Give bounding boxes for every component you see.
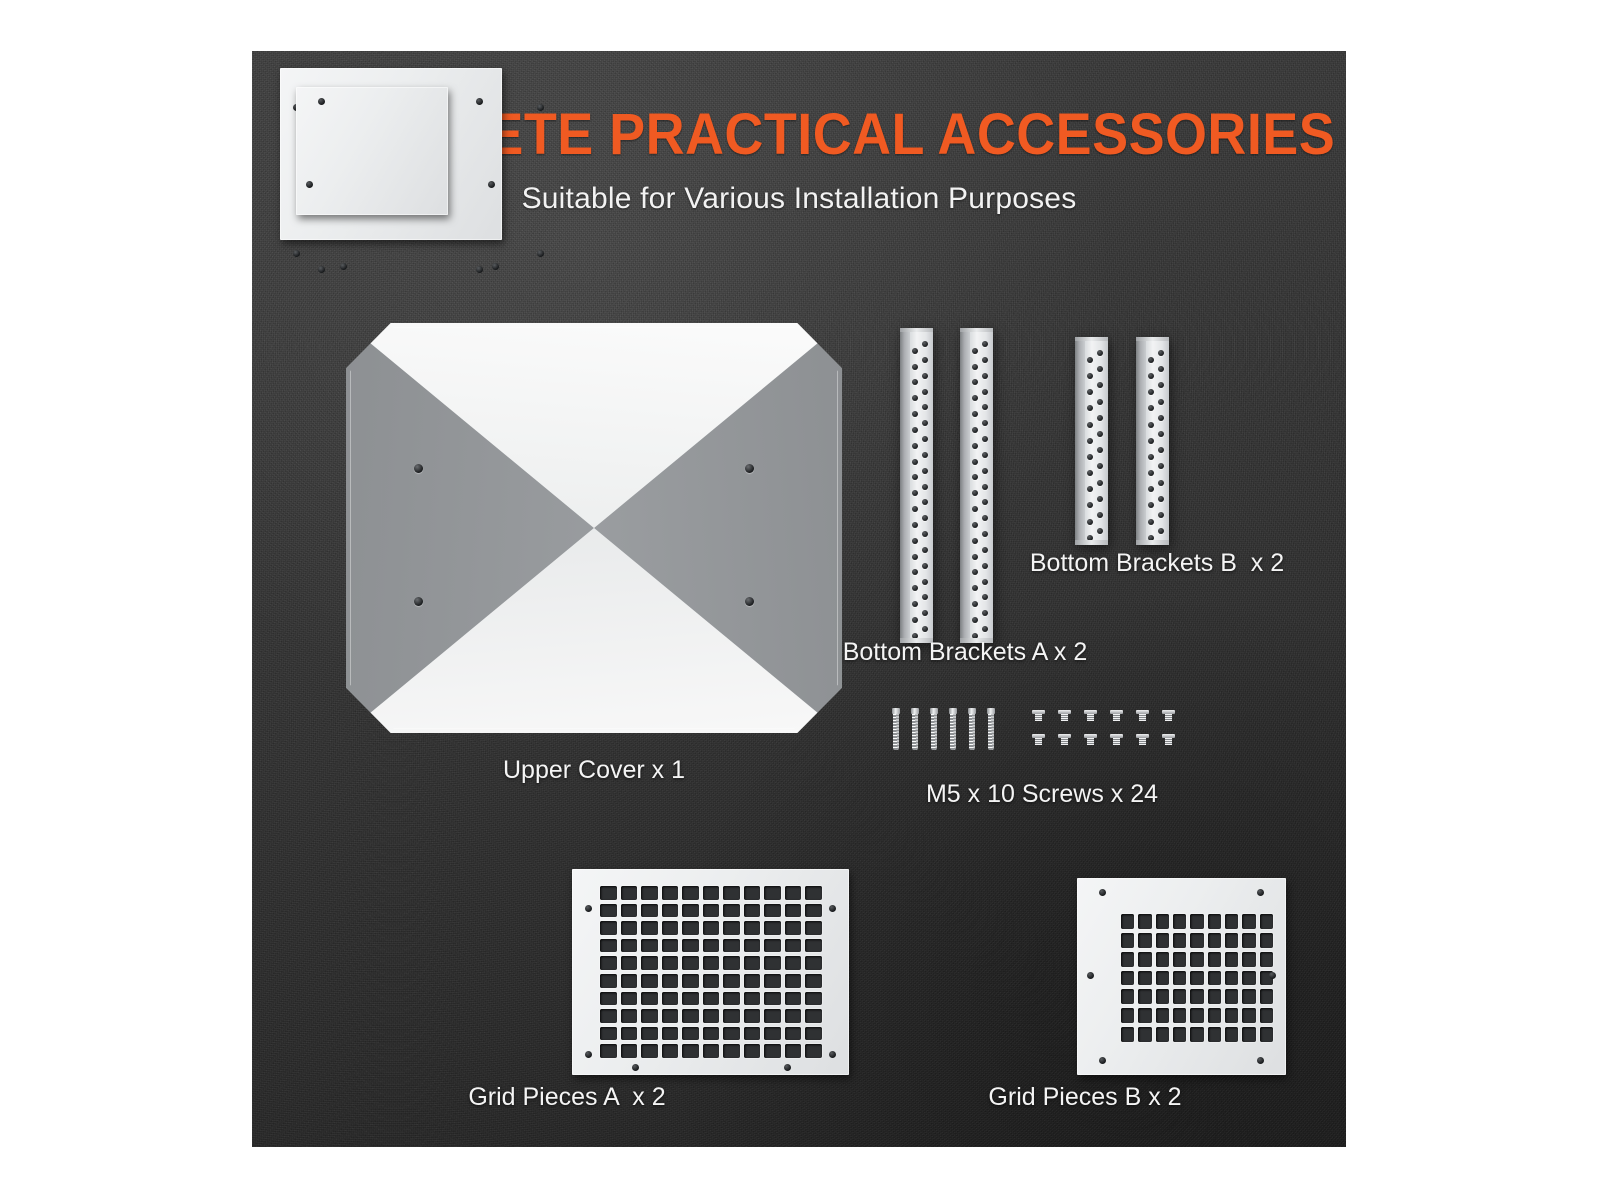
grid-cell xyxy=(805,974,822,988)
grid-cell xyxy=(1173,914,1186,929)
bracket-hole xyxy=(922,341,928,347)
grid-cell xyxy=(1242,933,1255,948)
bracket-hole xyxy=(1158,528,1164,534)
long-screw xyxy=(968,708,976,750)
upper-cover-part xyxy=(346,323,842,733)
grid-cell xyxy=(703,1044,720,1058)
grid-cell xyxy=(641,974,658,988)
bottom-bracket-b xyxy=(1136,341,1169,541)
grid-cell xyxy=(1190,933,1203,948)
screw-body xyxy=(1087,738,1094,745)
grid-cell xyxy=(744,956,761,970)
grid-cell xyxy=(1225,1027,1238,1042)
grid-cell xyxy=(1208,914,1221,929)
grid-cell xyxy=(723,1044,740,1058)
bracket-hole xyxy=(972,443,978,449)
grid-cell xyxy=(723,939,740,953)
bracket-hole-array xyxy=(910,332,933,639)
bracket-hole xyxy=(972,506,978,512)
short-screw xyxy=(1058,710,1071,721)
bracket-hole xyxy=(1097,463,1103,469)
grid-cell xyxy=(785,1009,802,1023)
bracket-hole xyxy=(1158,366,1164,372)
bracket-hole xyxy=(982,373,988,379)
bracket-hole xyxy=(1158,496,1164,502)
long-screw xyxy=(911,708,919,750)
grid-cell xyxy=(785,1044,802,1058)
grid-cell xyxy=(1208,971,1221,986)
grid-cell xyxy=(1121,933,1134,948)
grid-cell xyxy=(1225,952,1238,967)
grid-cell xyxy=(1225,971,1238,986)
bracket-hole xyxy=(982,499,988,505)
bracket-hole xyxy=(922,531,928,537)
grid-cell xyxy=(600,939,617,953)
bracket-hole xyxy=(982,579,988,585)
screw-body xyxy=(1035,738,1042,745)
grid-cell xyxy=(703,974,720,988)
dark-background-panel: COMPLETE PRACTICAL ACCESSORIES Suitable … xyxy=(252,51,1346,1147)
grid-cell xyxy=(682,939,699,953)
grid-piece-b xyxy=(1077,878,1286,1075)
grid-pieces-a-label: Grid Pieces A x 2 xyxy=(402,1083,732,1112)
cover-screw-hole xyxy=(414,464,423,473)
screw-body xyxy=(1139,738,1146,745)
short-screws-array xyxy=(1032,710,1187,758)
grid-cell xyxy=(703,956,720,970)
grid-cell xyxy=(1138,933,1151,948)
grid-cell xyxy=(723,1009,740,1023)
bracket-hole xyxy=(1097,431,1103,437)
infographic-canvas: COMPLETE PRACTICAL ACCESSORIES Suitable … xyxy=(0,0,1600,1200)
grid-cell xyxy=(744,886,761,900)
bracket-hole xyxy=(912,506,918,512)
bracket-flange xyxy=(900,332,910,639)
grid-cell xyxy=(600,1009,617,1023)
grid-cell xyxy=(1156,933,1169,948)
grid-cell xyxy=(621,886,638,900)
bracket-hole xyxy=(1087,486,1093,492)
bracket-hole xyxy=(1148,486,1154,492)
grid-cell xyxy=(1156,1027,1169,1042)
screw-body xyxy=(1035,714,1042,721)
grid-cell xyxy=(1156,971,1169,986)
bracket-hole xyxy=(922,626,928,632)
bracket-hole xyxy=(912,364,918,370)
grid-cell xyxy=(1156,914,1169,929)
short-screw xyxy=(1032,710,1045,721)
bracket-hole xyxy=(1097,382,1103,388)
grid-cell xyxy=(1225,1008,1238,1023)
grid-cell xyxy=(1121,914,1134,929)
bracket-hole xyxy=(922,547,928,553)
grid-cell xyxy=(641,886,658,900)
grid-screw-hole xyxy=(293,250,300,257)
bracket-hole xyxy=(912,395,918,401)
bracket-hole xyxy=(1158,431,1164,437)
grid-cell xyxy=(1260,914,1273,929)
bracket-hole xyxy=(972,585,978,591)
grid-cell xyxy=(600,992,617,1006)
screw-shank xyxy=(969,714,975,750)
grid-cell xyxy=(785,939,802,953)
bottom-brackets-b-label: Bottom Brackets B x 2 xyxy=(992,549,1322,578)
grid-cell xyxy=(1260,989,1273,1004)
bracket-hole xyxy=(972,569,978,575)
bracket-cap-bottom xyxy=(1075,540,1108,545)
grid-cell xyxy=(703,886,720,900)
bracket-face xyxy=(1146,341,1169,541)
short-screw xyxy=(1162,710,1175,721)
grid-cell xyxy=(764,956,781,970)
screw-body xyxy=(1113,738,1120,745)
bracket-hole xyxy=(1158,350,1164,356)
grid-cell xyxy=(1173,971,1186,986)
grid-cell xyxy=(600,974,617,988)
grid-cell xyxy=(723,956,740,970)
bracket-hole xyxy=(982,563,988,569)
bracket-hole xyxy=(1158,480,1164,486)
grid-screw-hole xyxy=(1257,1057,1264,1064)
grid-cell xyxy=(662,1044,679,1058)
bottom-bracket-a xyxy=(960,332,993,639)
grid-screw-hole xyxy=(488,181,495,188)
grid-cell xyxy=(1242,952,1255,967)
bracket-flange xyxy=(960,332,970,639)
grid-cell xyxy=(1242,914,1255,929)
grid-cell xyxy=(662,1009,679,1023)
bracket-hole xyxy=(912,490,918,496)
bracket-hole xyxy=(912,569,918,575)
grid-cell xyxy=(805,1044,822,1058)
bracket-hole xyxy=(1087,405,1093,411)
grid-cell xyxy=(621,1009,638,1023)
grid-screw-hole xyxy=(492,263,499,270)
grid-piece-a xyxy=(572,869,849,1075)
bracket-hole xyxy=(1148,502,1154,508)
bracket-hole xyxy=(982,594,988,600)
grid-screw-hole xyxy=(1269,972,1276,979)
grid-cell xyxy=(723,904,740,918)
bracket-hole xyxy=(922,515,928,521)
grid-cell xyxy=(682,1009,699,1023)
long-screws-array xyxy=(892,708,1002,760)
grid-cell xyxy=(1138,914,1151,929)
bracket-hole xyxy=(912,601,918,607)
grid-cell xyxy=(600,1027,617,1041)
grid-cell xyxy=(1173,952,1186,967)
grid-cell xyxy=(1156,952,1169,967)
grid-cell xyxy=(723,921,740,935)
bracket-hole xyxy=(1097,366,1103,372)
bracket-hole-array xyxy=(1085,341,1108,541)
grid-cell xyxy=(764,1044,781,1058)
bracket-hole xyxy=(1158,399,1164,405)
grid-cell xyxy=(723,1027,740,1041)
grid-cell xyxy=(1138,1008,1151,1023)
bracket-hole xyxy=(1097,512,1103,518)
short-screw xyxy=(1084,734,1097,745)
grid-cell xyxy=(1173,1027,1186,1042)
grid-cell xyxy=(1208,989,1221,1004)
screw-body xyxy=(1061,738,1068,745)
bracket-hole xyxy=(982,452,988,458)
grid-screw-hole xyxy=(476,266,483,273)
bracket-flange xyxy=(1075,341,1085,541)
bracket-hole xyxy=(1097,528,1103,534)
bracket-hole xyxy=(912,585,918,591)
grid-cell xyxy=(805,921,822,935)
bracket-hole xyxy=(922,484,928,490)
grid-screw-hole xyxy=(632,1064,639,1071)
screw-body xyxy=(1061,714,1068,721)
bracket-face xyxy=(910,332,933,639)
grid-cell xyxy=(1190,952,1203,967)
grid-cell xyxy=(621,1044,638,1058)
bracket-hole xyxy=(1097,496,1103,502)
bracket-hole xyxy=(1087,422,1093,428)
grid-cell xyxy=(621,939,638,953)
bracket-hole xyxy=(912,617,918,623)
grid-cell xyxy=(764,904,781,918)
grid-cell xyxy=(662,956,679,970)
grid-cell xyxy=(1173,989,1186,1004)
grid-screw-hole xyxy=(340,263,347,270)
bracket-hole xyxy=(972,427,978,433)
grid-cell xyxy=(682,956,699,970)
grid-cell xyxy=(764,886,781,900)
bracket-hole xyxy=(982,404,988,410)
bracket-hole xyxy=(982,420,988,426)
grid-cell xyxy=(1121,971,1134,986)
grid-cell xyxy=(1208,1027,1221,1042)
bracket-hole xyxy=(982,468,988,474)
bracket-hole xyxy=(982,341,988,347)
grid-cell xyxy=(641,1027,658,1041)
grid-cell xyxy=(662,1027,679,1041)
grid-cell xyxy=(662,974,679,988)
bracket-hole-array xyxy=(1146,341,1169,541)
grid-cell xyxy=(703,939,720,953)
grid-cell xyxy=(641,992,658,1006)
short-screw xyxy=(1136,710,1149,721)
grid-cell xyxy=(723,992,740,1006)
short-screw xyxy=(1032,734,1045,745)
bracket-hole xyxy=(912,538,918,544)
grid-screw-hole xyxy=(537,250,544,257)
grid-cell xyxy=(744,921,761,935)
grid-piece-b xyxy=(296,87,448,215)
screws-label: M5 x 10 Screws x 24 xyxy=(872,780,1212,809)
bracket-hole xyxy=(982,610,988,616)
bracket-hole xyxy=(912,459,918,465)
grid-screw-hole xyxy=(306,181,313,188)
grid-cell xyxy=(785,1027,802,1041)
grid-cell xyxy=(600,921,617,935)
bracket-hole xyxy=(982,515,988,521)
bracket-face xyxy=(970,332,993,639)
bracket-hole xyxy=(972,411,978,417)
bracket-hole xyxy=(1148,422,1154,428)
grid-screw-hole xyxy=(537,104,544,111)
grid-cell xyxy=(600,886,617,900)
bracket-hole xyxy=(1097,447,1103,453)
grid-cell xyxy=(621,921,638,935)
bracket-hole xyxy=(912,443,918,449)
bracket-hole xyxy=(912,522,918,528)
cover-screw-hole xyxy=(414,597,423,606)
screw-shank xyxy=(912,714,918,750)
bracket-hole xyxy=(1087,502,1093,508)
bracket-hole xyxy=(972,379,978,385)
bracket-hole xyxy=(1158,463,1164,469)
grid-cell xyxy=(703,1009,720,1023)
grid-cell xyxy=(641,1044,658,1058)
grid-screw-hole xyxy=(585,905,592,912)
bracket-hole xyxy=(1158,415,1164,421)
bracket-hole xyxy=(922,468,928,474)
grid-cell xyxy=(621,956,638,970)
grid-cell xyxy=(1173,933,1186,948)
grid-cell xyxy=(682,886,699,900)
bracket-hole xyxy=(982,357,988,363)
bracket-hole xyxy=(1148,373,1154,379)
bracket-hole xyxy=(1087,389,1093,395)
grid-cell xyxy=(1260,1008,1273,1023)
grid-cell xyxy=(723,886,740,900)
long-screw xyxy=(949,708,957,750)
short-screw xyxy=(1136,734,1149,745)
grid-cell xyxy=(662,886,679,900)
bracket-hole xyxy=(922,436,928,442)
grid-cell xyxy=(1225,933,1238,948)
grid-cell xyxy=(600,956,617,970)
grid-cell xyxy=(744,974,761,988)
cover-screw-hole xyxy=(745,464,754,473)
grid-cell xyxy=(641,956,658,970)
bracket-hole xyxy=(1097,350,1103,356)
grid-cell xyxy=(682,992,699,1006)
bracket-hole xyxy=(1158,447,1164,453)
bracket-face xyxy=(1085,341,1108,541)
bracket-hole-array xyxy=(970,332,993,639)
bracket-hole xyxy=(1087,373,1093,379)
bracket-hole xyxy=(1148,357,1154,363)
grid-cell xyxy=(621,974,638,988)
bracket-hole xyxy=(1097,399,1103,405)
bracket-hole xyxy=(1148,454,1154,460)
grid-cell xyxy=(764,1009,781,1023)
bracket-hole xyxy=(982,436,988,442)
grid-cell xyxy=(1190,914,1203,929)
bottom-bracket-a xyxy=(900,332,933,639)
grid-cell xyxy=(785,956,802,970)
grid-cell xyxy=(744,992,761,1006)
bracket-hole xyxy=(1158,512,1164,518)
grid-cell xyxy=(1121,1027,1134,1042)
grid-cell xyxy=(600,904,617,918)
bracket-hole xyxy=(982,547,988,553)
grid-cell xyxy=(764,992,781,1006)
grid-cell xyxy=(662,904,679,918)
upper-cover-label: Upper Cover x 1 xyxy=(346,756,842,785)
grid-cell xyxy=(744,1009,761,1023)
bracket-hole xyxy=(972,348,978,354)
grid-cell xyxy=(1173,1008,1186,1023)
bracket-hole xyxy=(972,474,978,480)
screw-shank xyxy=(893,714,899,750)
long-screw xyxy=(892,708,900,750)
grid-pieces-b-label: Grid Pieces B x 2 xyxy=(920,1083,1250,1112)
bracket-hole xyxy=(912,554,918,560)
grid-a-cell-array xyxy=(600,886,822,1058)
bracket-hole xyxy=(972,601,978,607)
screw-shank xyxy=(931,714,937,750)
grid-cell xyxy=(1242,1027,1255,1042)
bracket-hole xyxy=(982,626,988,632)
grid-cell xyxy=(1121,952,1134,967)
screw-body xyxy=(1087,714,1094,721)
grid-cell xyxy=(764,974,781,988)
grid-screw-hole xyxy=(318,266,325,273)
grid-screw-hole xyxy=(1257,889,1264,896)
grid-b-cell-array xyxy=(1121,914,1273,1042)
grid-cell xyxy=(641,939,658,953)
screw-shank xyxy=(988,714,994,750)
grid-cell xyxy=(641,1009,658,1023)
grid-cell xyxy=(1138,989,1151,1004)
grid-cell xyxy=(1208,1008,1221,1023)
bracket-hole xyxy=(972,364,978,370)
grid-cell xyxy=(744,939,761,953)
grid-cell xyxy=(764,939,781,953)
grid-cell xyxy=(785,974,802,988)
grid-screw-hole xyxy=(829,1051,836,1058)
short-screw xyxy=(1110,710,1123,721)
grid-cell xyxy=(1260,1027,1273,1042)
grid-cell xyxy=(785,904,802,918)
bracket-hole xyxy=(982,484,988,490)
bracket-hole xyxy=(972,395,978,401)
grid-cell xyxy=(1190,1027,1203,1042)
grid-cell xyxy=(1138,1027,1151,1042)
grid-cell xyxy=(785,921,802,935)
grid-screw-hole xyxy=(1099,889,1106,896)
bracket-hole xyxy=(922,389,928,395)
long-screw xyxy=(987,708,995,750)
grid-cell xyxy=(1225,989,1238,1004)
grid-cell xyxy=(662,992,679,1006)
grid-cell xyxy=(703,1027,720,1041)
grid-cell xyxy=(1242,1008,1255,1023)
bracket-hole xyxy=(982,389,988,395)
grid-cell xyxy=(1225,914,1238,929)
bracket-hole xyxy=(1097,415,1103,421)
grid-cell xyxy=(744,1044,761,1058)
grid-cell xyxy=(805,1009,822,1023)
grid-cell xyxy=(1208,952,1221,967)
long-screw xyxy=(930,708,938,750)
grid-cell xyxy=(744,904,761,918)
bracket-hole xyxy=(922,563,928,569)
bracket-hole xyxy=(982,531,988,537)
grid-screw-hole xyxy=(318,98,325,105)
grid-cell xyxy=(1260,952,1273,967)
grid-cell xyxy=(703,992,720,1006)
bracket-hole xyxy=(922,610,928,616)
grid-cell xyxy=(1156,989,1169,1004)
upper-cover-plate xyxy=(346,323,842,733)
